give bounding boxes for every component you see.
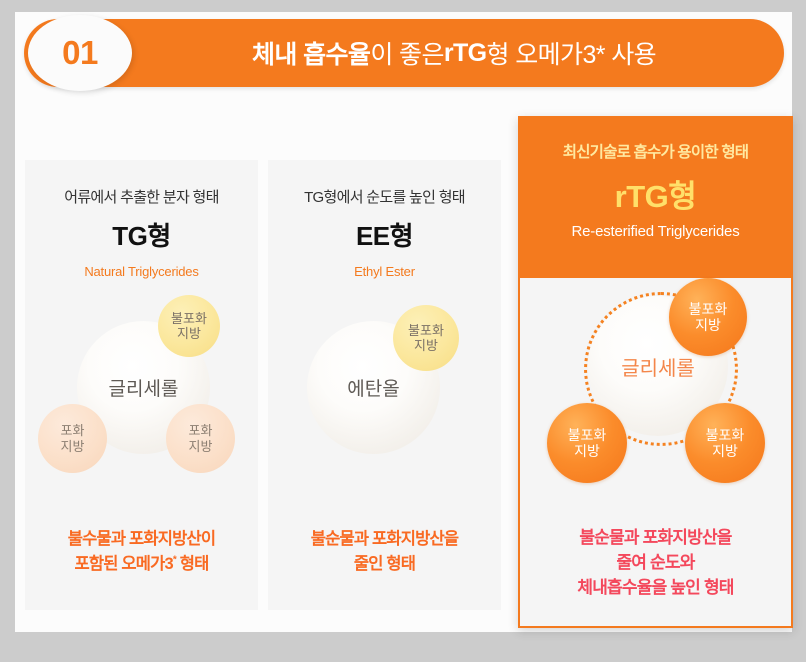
bubble-label-line1: 불포화 bbox=[171, 311, 207, 326]
card-tg-footer-line2: 포함된 오메가3* 형태 bbox=[25, 552, 258, 576]
card-ee-english: Ethyl Ester bbox=[268, 264, 501, 279]
card-rtg-title: rTG형 bbox=[520, 171, 791, 216]
bubble-label-line1: 불포화 bbox=[706, 427, 745, 443]
bubble-label-line2: 지방 bbox=[177, 326, 201, 341]
card-tg-english: Natural Triglycerides bbox=[25, 264, 258, 279]
bubble-label-line1: 불포화 bbox=[408, 323, 444, 338]
card-ee-subtitle: TG형에서 순도를 높인 형태 bbox=[268, 186, 501, 207]
card-rtg-english: Re-esterified Triglycerides bbox=[520, 223, 791, 240]
card-ee-title: EE형 bbox=[268, 216, 501, 253]
section-header-bar: 체내 흡수율이 좋은 rTG형 오메가3* 사용 bbox=[24, 19, 784, 87]
bubble-label-line1: 불포화 bbox=[689, 301, 728, 317]
bubble-label-line2: 지방 bbox=[712, 443, 738, 459]
card-tg-subtitle: 어류에서 추출한 분자 형태 bbox=[25, 186, 258, 207]
bubble-label-line1: 불포화 bbox=[568, 427, 607, 443]
bubble-label-line2: 지방 bbox=[695, 317, 721, 333]
infographic-sheet: 체내 흡수율이 좋은 rTG형 오메가3* 사용 01 어류에서 추출한 분자 … bbox=[15, 12, 792, 632]
card-tg-footer-line1: 불수물과 포화지방산이 bbox=[25, 527, 258, 551]
bubble-saturated-fat-right: 포화 지방 bbox=[166, 404, 235, 473]
card-rtg-head: 최신기술로 흡수가 용이한 형태 rTG형 Re-esterified Trig… bbox=[520, 118, 791, 278]
bubble-unsaturated-fat: 불포화 지방 bbox=[393, 305, 459, 371]
card-ee-footer-line2: 줄인 형태 bbox=[268, 552, 501, 576]
card-ee-molecule-diagram: 에탄올 불포화 지방 bbox=[268, 291, 501, 501]
bubble-label-line2: 지방 bbox=[189, 439, 213, 454]
step-number-label: 01 bbox=[62, 34, 98, 72]
bubble-label-line2: 지방 bbox=[414, 338, 438, 353]
bubble-unsaturated-fat-right: 불포화 지방 bbox=[685, 403, 765, 483]
section-title-part-4: 형 오메가3* 사용 bbox=[487, 35, 657, 71]
card-tg-molecule-diagram: 글리세롤 불포화 지방 포화 지방 포화 지방 bbox=[25, 291, 258, 501]
step-number-badge: 01 bbox=[28, 15, 132, 91]
card-rtg-subtitle: 최신기술로 흡수가 용이한 형태 bbox=[520, 140, 791, 162]
card-tg-footer: 불수물과 포화지방산이 포함된 오메가3* 형태 bbox=[25, 527, 258, 576]
bubble-unsaturated-fat-top: 불포화 지방 bbox=[669, 278, 747, 356]
card-tg-title: TG형 bbox=[25, 216, 258, 253]
bubble-label-line2: 지방 bbox=[574, 443, 600, 459]
bubble-label-line2: 지방 bbox=[61, 439, 85, 454]
bubble-unsaturated-fat: 불포화 지방 bbox=[158, 295, 220, 357]
bubble-label-line1: 포화 bbox=[61, 423, 85, 438]
card-rtg-footer-line2: 줄여 순도와 bbox=[520, 550, 791, 575]
bubble-unsaturated-fat-left: 불포화 지방 bbox=[547, 403, 627, 483]
section-title-part-1: 체내 흡수율 bbox=[252, 35, 370, 71]
card-ee-head: TG형에서 순도를 높인 형태 EE형 Ethyl Ester bbox=[268, 160, 501, 279]
bubble-saturated-fat-left: 포화 지방 bbox=[38, 404, 107, 473]
card-tg-footer-line2-post: 형태 bbox=[176, 555, 209, 573]
card-ee-footer: 불순물과 포화지방산을 줄인 형태 bbox=[268, 527, 501, 576]
card-ee[interactable]: TG형에서 순도를 높인 형태 EE형 Ethyl Ester 에탄올 불포화 … bbox=[268, 160, 501, 610]
card-rtg-molecule-diagram: 글리세롤 불포화 지방 불포화 지방 불포화 지방 bbox=[520, 278, 791, 508]
card-tg[interactable]: 어류에서 추출한 분자 형태 TG형 Natural Triglycerides… bbox=[25, 160, 258, 610]
card-ee-footer-line1: 불순물과 포화지방산을 bbox=[268, 527, 501, 551]
card-rtg-footer-line1: 불순물과 포화지방산을 bbox=[520, 525, 791, 550]
card-rtg-footer-line3: 체내흡수율을 높인 형태 bbox=[520, 575, 791, 600]
card-tg-footer-line2-pre: 포함된 오메가3 bbox=[74, 555, 172, 573]
card-rtg[interactable]: 최신기술로 흡수가 용이한 형태 rTG형 Re-esterified Trig… bbox=[518, 116, 793, 628]
section-title-part-2: 이 좋은 bbox=[370, 35, 444, 71]
card-rtg-footer: 불순물과 포화지방산을 줄여 순도와 체내흡수율을 높인 형태 bbox=[520, 525, 791, 600]
bubble-label-line1: 포화 bbox=[189, 423, 213, 438]
card-tg-head: 어류에서 추출한 분자 형태 TG형 Natural Triglycerides bbox=[25, 160, 258, 279]
section-title: 체내 흡수율이 좋은 rTG형 오메가3* 사용 bbox=[144, 19, 764, 87]
section-title-part-3: rTG bbox=[444, 39, 487, 68]
